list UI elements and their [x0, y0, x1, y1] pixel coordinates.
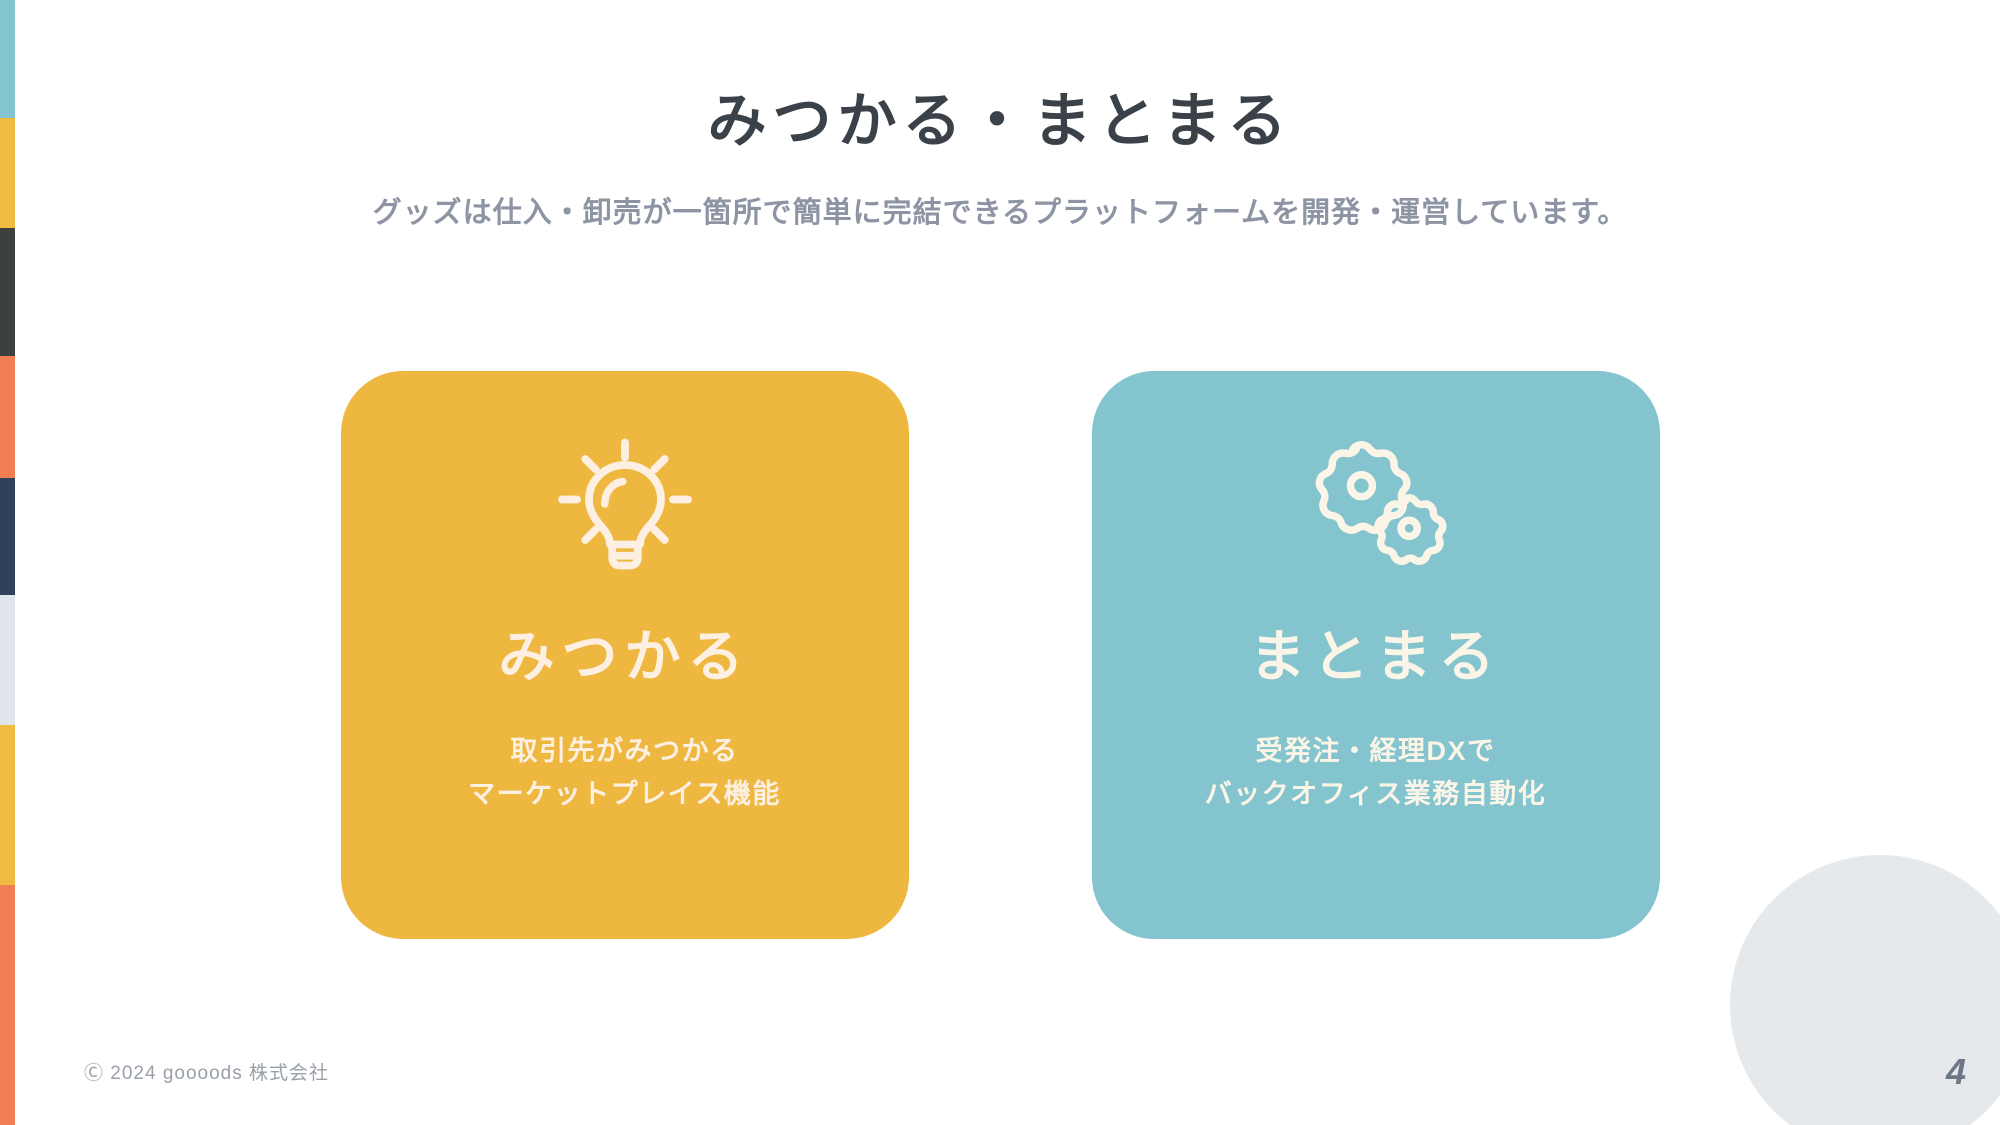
feature-card-description: 受発注・経理DXで バックオフィス業務自動化	[1205, 730, 1546, 816]
accent-stripe-segment-3	[0, 356, 15, 478]
feature-card-title: みつかる	[499, 626, 751, 688]
accent-stripe-segment-4	[0, 478, 15, 595]
page-number: 4	[1946, 1051, 1966, 1093]
feature-card-description-line: バックオフィス業務自動化	[1205, 773, 1546, 816]
left-accent-stripe	[0, 0, 15, 1125]
page-title: みつかる・まとまる	[0, 85, 2000, 159]
accent-stripe-segment-5	[0, 595, 15, 725]
feature-card-description: 取引先がみつかる マーケットプレイス機能	[468, 730, 781, 816]
accent-stripe-segment-7	[0, 885, 15, 1125]
feature-card-description-line: マーケットプレイス機能	[468, 773, 781, 816]
accent-stripe-segment-6	[0, 725, 15, 885]
feature-card-title: まとまる	[1250, 626, 1502, 688]
feature-card-description-line: 取引先がみつかる	[468, 730, 781, 773]
accent-stripe-segment-1	[0, 118, 15, 228]
accent-stripe-segment-0	[0, 0, 15, 118]
accent-stripe-segment-2	[0, 228, 15, 356]
feature-card-description-line: 受発注・経理DXで	[1205, 730, 1546, 773]
feature-card-matomaru[interactable]: まとまる 受発注・経理DXで バックオフィス業務自動化	[1092, 371, 1660, 939]
footer-copyright: Ⓒ 2024 goooods 株式会社	[84, 1058, 329, 1085]
feature-card-mitsukaru[interactable]: みつかる 取引先がみつかる マーケットプレイス機能	[341, 371, 909, 939]
gears-icon	[1301, 429, 1451, 584]
page-subtitle: グッズは仕入・卸売が一箇所で簡単に完結できるプラットフォームを開発・運営していま…	[0, 189, 2000, 231]
lightbulb-icon	[550, 429, 700, 584]
slide-header: みつかる・まとまる グッズは仕入・卸売が一箇所で簡単に完結できるプラットフォーム…	[0, 0, 2000, 231]
feature-card-list: みつかる 取引先がみつかる マーケットプレイス機能 まとまる 受発注・経理DXで…	[0, 371, 2000, 939]
